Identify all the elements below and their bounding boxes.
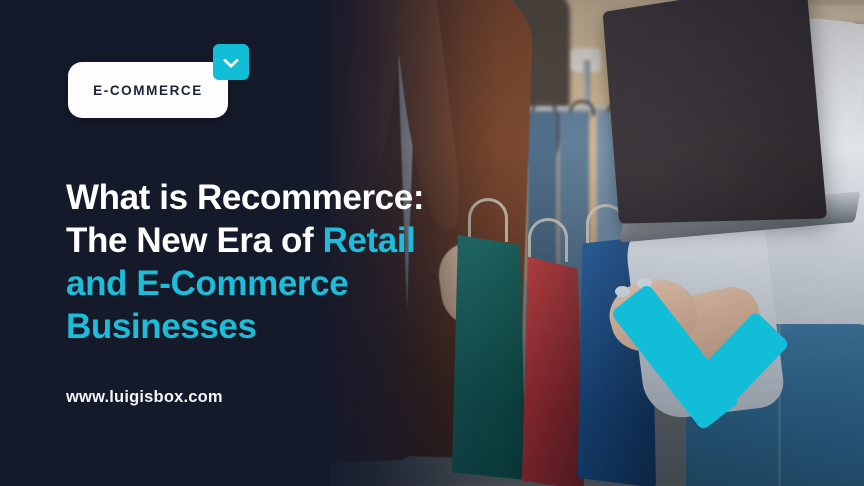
- headline-line-1: What is Recommerce:: [66, 176, 486, 219]
- page-title: What is Recommerce: The New Era of Retai…: [66, 176, 486, 348]
- headline-line-2: The New Era of Retail: [66, 219, 486, 262]
- laptop: [600, 0, 840, 266]
- headline-line-2-prefix: The New Era of: [66, 221, 323, 260]
- badge-label: E-COMMERCE: [93, 83, 203, 98]
- shopping-bag-red: [522, 252, 584, 486]
- promo-banner: E-COMMERCE What is Recommerce: The New E…: [0, 0, 864, 486]
- headline-line-2-highlight: Retail: [323, 221, 416, 260]
- checkmark-icon: [631, 258, 797, 414]
- headline-line-4: Businesses: [66, 305, 486, 348]
- category-badge[interactable]: E-COMMERCE: [68, 44, 250, 118]
- laptop-lid: [603, 0, 828, 224]
- headline-line-3: and E-Commerce: [66, 262, 486, 305]
- chevron-down-check-icon: [213, 44, 249, 80]
- fingernail: [615, 286, 630, 297]
- bag-handle: [528, 218, 568, 262]
- website-url: www.luigisbox.com: [66, 388, 223, 407]
- badge-pill[interactable]: E-COMMERCE: [68, 62, 228, 118]
